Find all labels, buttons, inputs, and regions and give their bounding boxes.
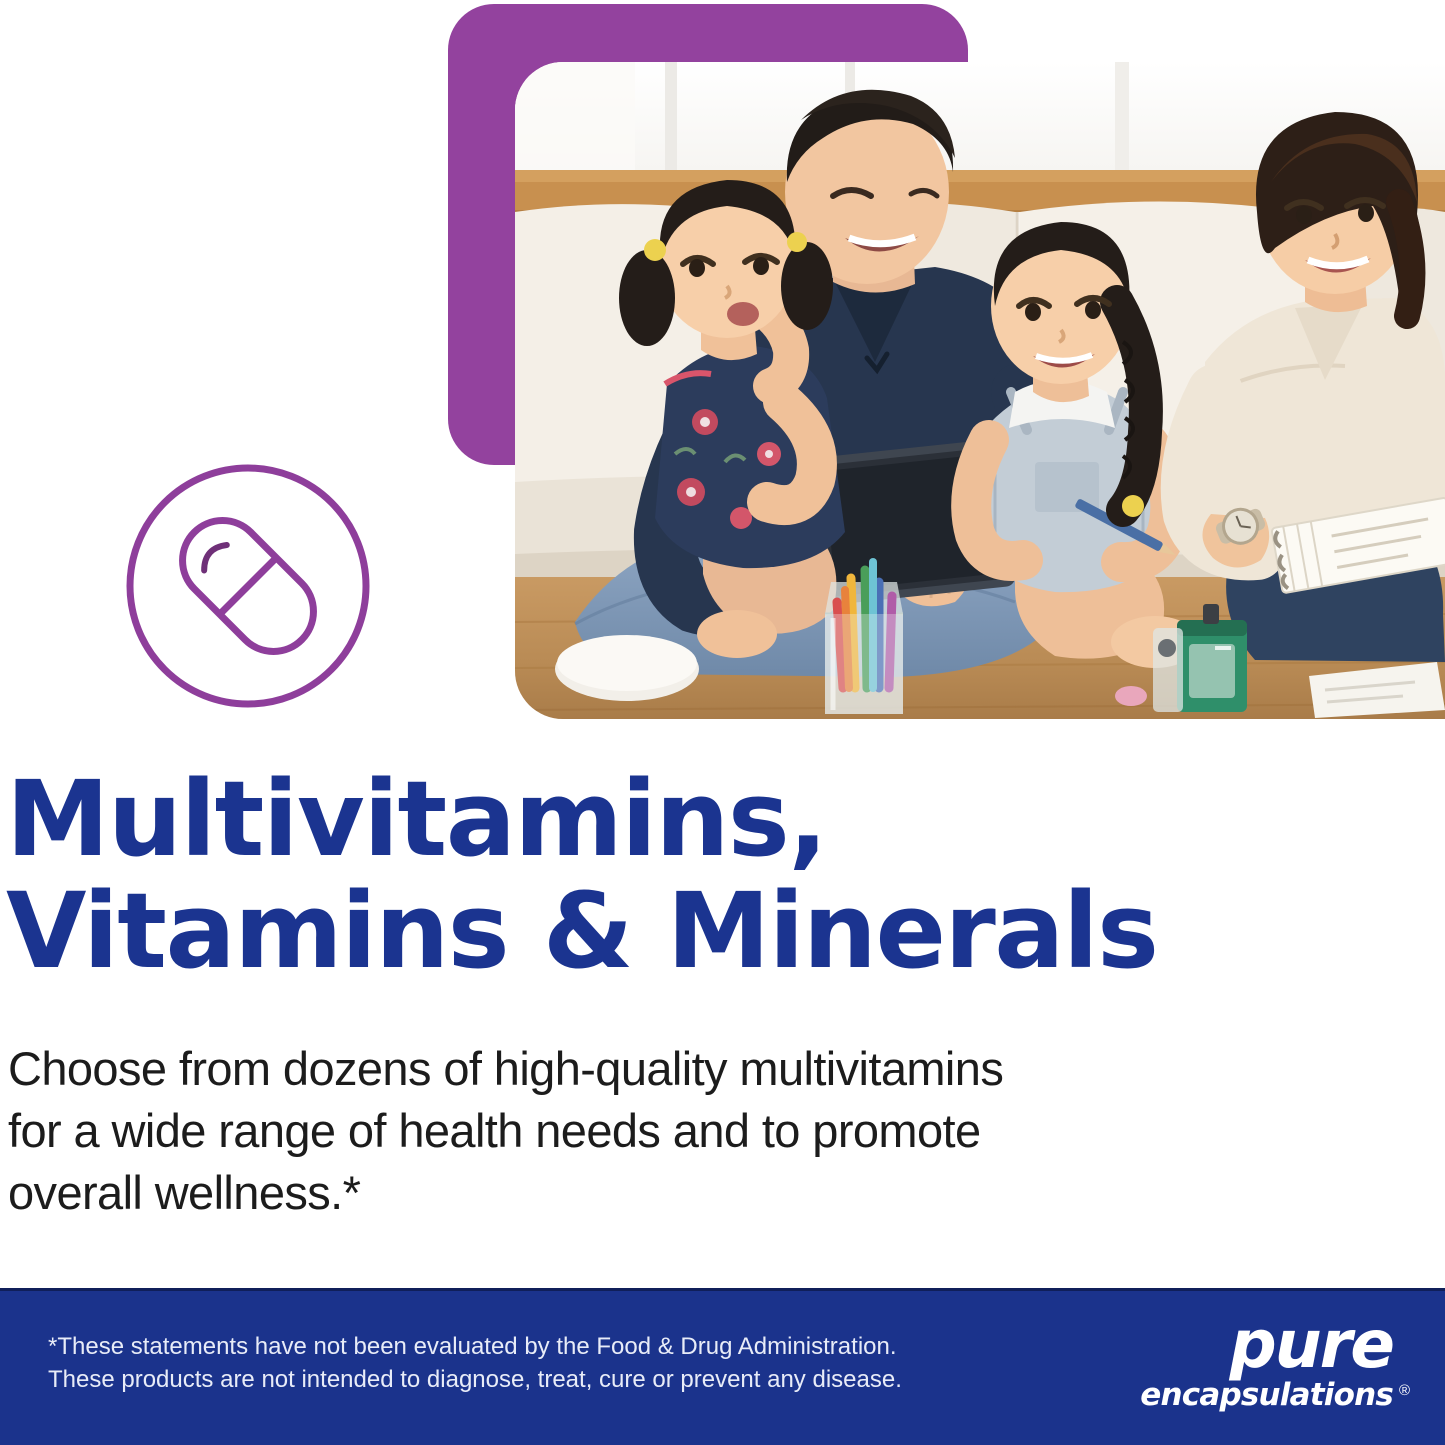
- page-subcopy: Choose from dozens of high-quality multi…: [8, 1038, 1268, 1224]
- registered-trademark-icon: ®: [1399, 1372, 1410, 1410]
- brand-logo: pure encapsulations ®: [1093, 1314, 1393, 1420]
- page-title: Multivitamins, Vitamins & Minerals: [6, 763, 1206, 987]
- brand-logo-sub-wrap: encapsulations ®: [1093, 1376, 1393, 1420]
- brand-logo-sub: encapsulations: [1140, 1377, 1393, 1413]
- footer-bar: *These statements have not been evaluate…: [0, 1288, 1445, 1445]
- capsule-icon: [122, 460, 374, 712]
- brand-logo-word: pure: [1093, 1314, 1393, 1376]
- footer-top-rule: [0, 1288, 1445, 1291]
- hero-photo: [515, 62, 1445, 719]
- product-banner: Multivitamins, Vitamins & Minerals Choos…: [0, 0, 1445, 1445]
- footer-disclaimer: *These statements have not been evaluate…: [48, 1330, 948, 1396]
